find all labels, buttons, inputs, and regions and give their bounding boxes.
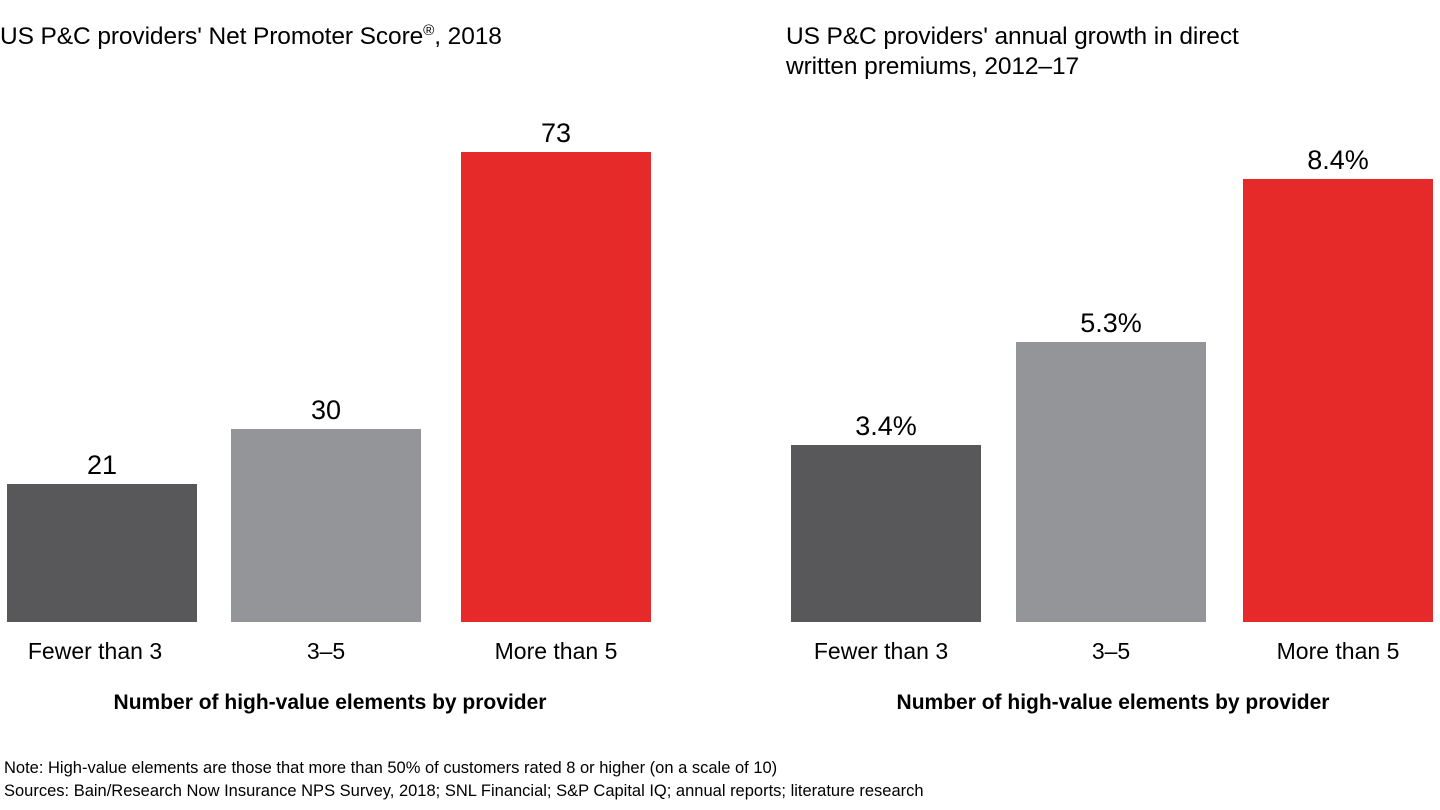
bar-nps-more-than-5 [461, 152, 651, 622]
bar-dwp-3-to-5 [1016, 342, 1206, 622]
bar-slot-dwp-2: 8.4% [1243, 96, 1433, 622]
axis-caption-dwp-growth: Number of high-value elements by provide… [786, 690, 1440, 716]
bar-value-nps-0: 21 [0, 450, 237, 480]
category-label-nps-1: 3–5 [208, 636, 444, 666]
registered-trademark-icon: ® [423, 22, 434, 39]
plot-area-dwp-growth: 3.4% 5.3% 8.4% [786, 96, 1440, 622]
bar-nps-fewer-than-3 [7, 484, 197, 622]
chart-panel-dwp-growth: US P&C providers' annual growth in direc… [786, 0, 1440, 730]
footnote-sources: Sources: Bain/Research Now Insurance NPS… [4, 780, 1440, 803]
chart-page: US P&C providers' Net Promoter Score®, 2… [0, 0, 1440, 810]
chart-title-nps-tail: , 2018 [434, 23, 502, 50]
plot-area-nps: 21 30 73 [0, 96, 720, 622]
category-axis-dwp-growth: Fewer than 3 3–5 More than 5 [786, 636, 1440, 668]
bar-dwp-more-than-5 [1243, 179, 1433, 622]
category-label-dwp-2: More than 5 [1220, 636, 1440, 666]
category-axis-nps: Fewer than 3 3–5 More than 5 [0, 636, 720, 668]
chart-title-dwp-line2: written premiums, 2012–17 [786, 53, 1079, 80]
category-label-dwp-0: Fewer than 3 [763, 636, 999, 666]
bar-value-dwp-2: 8.4% [1203, 145, 1440, 175]
chart-title-dwp-line1: US P&C providers' annual growth in direc… [786, 23, 1239, 50]
chart-title-dwp-growth: US P&C providers' annual growth in direc… [786, 22, 1440, 82]
bar-nps-3-to-5 [231, 429, 421, 622]
bar-value-dwp-1: 5.3% [976, 308, 1246, 338]
bar-slot-nps-0: 21 [7, 96, 197, 622]
category-label-dwp-1: 3–5 [993, 636, 1229, 666]
axis-caption-nps: Number of high-value elements by provide… [0, 690, 660, 716]
bar-slot-nps-2: 73 [461, 96, 651, 622]
category-label-nps-0: Fewer than 3 [0, 636, 213, 666]
bar-slot-nps-1: 30 [231, 96, 421, 622]
category-label-nps-2: More than 5 [438, 636, 674, 666]
footnote-note: Note: High-value elements are those that… [4, 757, 1440, 780]
chart-title-nps: US P&C providers' Net Promoter Score®, 2… [0, 22, 720, 52]
footnotes: Note: High-value elements are those that… [4, 757, 1440, 803]
bar-value-nps-1: 30 [191, 395, 461, 425]
chart-panel-nps: US P&C providers' Net Promoter Score®, 2… [0, 0, 720, 730]
chart-title-nps-main: US P&C providers' Net Promoter Score [0, 23, 423, 50]
bar-slot-dwp-1: 5.3% [1016, 96, 1206, 622]
bar-slot-dwp-0: 3.4% [791, 96, 981, 622]
bar-value-dwp-0: 3.4% [751, 411, 1021, 441]
bar-value-nps-2: 73 [421, 118, 691, 148]
bar-dwp-fewer-than-3 [791, 445, 981, 622]
